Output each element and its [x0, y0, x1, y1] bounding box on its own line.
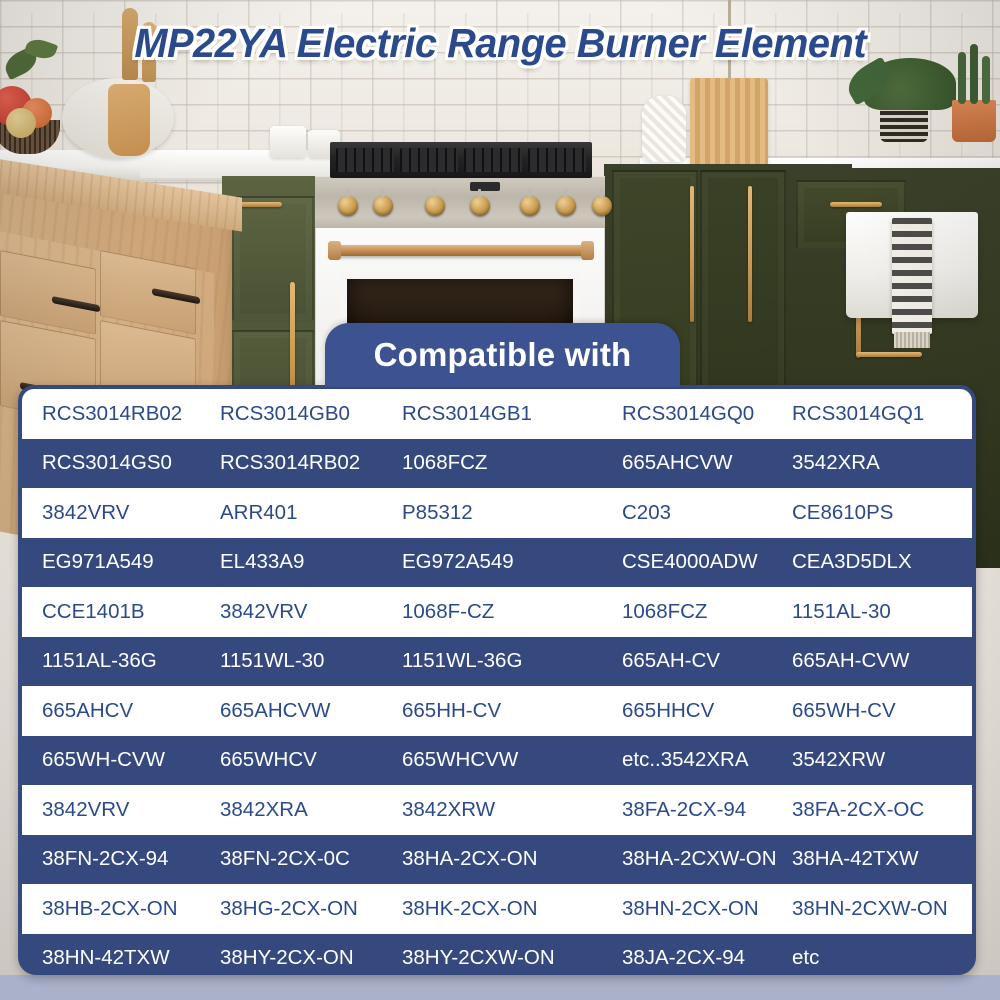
- model-number-cell: 665HHCV: [622, 699, 792, 723]
- model-number-cell: CSE4000ADW: [622, 550, 792, 574]
- model-number-cell: EL433A9: [220, 550, 402, 574]
- model-number-cell: 3842XRW: [402, 798, 622, 822]
- model-number-cell: RCS3014RB02: [220, 451, 402, 475]
- model-number-cell: 3842XRA: [220, 798, 402, 822]
- model-number-cell: 665AHCVW: [622, 451, 792, 475]
- model-number-cell: 1151AL-36G: [42, 649, 220, 673]
- model-number-cell: 665HH-CV: [402, 699, 622, 723]
- model-number-cell: 38HA-42TXW: [792, 847, 918, 871]
- compatible-with-label: Compatible with: [374, 336, 632, 374]
- model-number-cell: 665AHCVW: [220, 699, 402, 723]
- table-row: RCS3014RB02RCS3014GB0RCS3014GB1RCS3014GQ…: [22, 389, 972, 439]
- model-number-cell: 38HB-2CX-ON: [42, 897, 220, 921]
- compatibility-model-table: RCS3014RB02RCS3014GB0RCS3014GB1RCS3014GQ…: [18, 385, 976, 975]
- table-row: RCS3014GS0RCS3014RB021068FCZ665AHCVW3542…: [22, 439, 972, 489]
- model-number-cell: 1151AL-30: [792, 600, 891, 624]
- model-number-cell: 665AH-CV: [622, 649, 792, 673]
- model-number-cell: 1068FCZ: [622, 600, 792, 624]
- compatible-with-badge: Compatible with: [325, 323, 680, 387]
- model-number-cell: 38HK-2CX-ON: [402, 897, 622, 921]
- model-number-cell: etc: [792, 946, 819, 970]
- table-row: CCE1401B3842VRV1068F-CZ1068FCZ1151AL-30: [22, 587, 972, 637]
- model-number-cell: CEA3D5DLX: [792, 550, 912, 574]
- table-row: 3842VRVARR401P85312C203CE8610PS: [22, 488, 972, 538]
- model-number-cell: 38FA-2CX-94: [622, 798, 792, 822]
- model-number-cell: 665WHCVW: [402, 748, 622, 772]
- model-number-cell: 38HN-2CXW-ON: [792, 897, 948, 921]
- model-number-cell: 3842VRV: [42, 798, 220, 822]
- model-number-cell: 3842VRV: [42, 501, 220, 525]
- model-number-cell: ARR401: [220, 501, 402, 525]
- model-number-cell: RCS3014GS0: [42, 451, 220, 475]
- model-number-cell: 38HG-2CX-ON: [220, 897, 402, 921]
- model-number-cell: EG971A549: [42, 550, 220, 574]
- page-title-text: MP22YA Electric Range Burner Element: [134, 20, 866, 67]
- model-number-cell: 1068F-CZ: [402, 600, 622, 624]
- page-title: MP22YA Electric Range Burner Element: [0, 14, 1000, 72]
- model-number-cell: RCS3014GB1: [402, 402, 622, 426]
- model-number-cell: 1068FCZ: [402, 451, 622, 475]
- model-number-cell: EG972A549: [402, 550, 622, 574]
- table-row: 38FN-2CX-9438FN-2CX-0C38HA-2CX-ON38HA-2C…: [22, 835, 972, 885]
- model-number-cell: 3842VRV: [220, 600, 402, 624]
- table-row: EG971A549EL433A9EG972A549CSE4000ADWCEA3D…: [22, 538, 972, 588]
- model-number-cell: 1151WL-30: [220, 649, 402, 673]
- table-row: 665AHCV665AHCVW665HH-CV665HHCV665WH-CV: [22, 686, 972, 736]
- model-number-cell: CCE1401B: [42, 600, 220, 624]
- model-number-cell: 38HY-2CX-ON: [220, 946, 402, 970]
- model-number-cell: 3542XRW: [792, 748, 885, 772]
- model-number-cell: 38HA-2CX-ON: [402, 847, 622, 871]
- model-number-cell: C203: [622, 501, 792, 525]
- model-number-cell: P85312: [402, 501, 622, 525]
- model-number-cell: 665WH-CVW: [42, 748, 220, 772]
- model-number-cell: 665AHCV: [42, 699, 220, 723]
- model-number-cell: CE8610PS: [792, 501, 893, 525]
- model-number-cell: 38FN-2CX-0C: [220, 847, 402, 871]
- model-number-cell: RCS3014RB02: [42, 402, 220, 426]
- model-number-cell: 38JA-2CX-94: [622, 946, 792, 970]
- table-row: 3842VRV3842XRA3842XRW38FA-2CX-9438FA-2CX…: [22, 785, 972, 835]
- model-number-cell: 665WH-CV: [792, 699, 896, 723]
- model-number-cell: 38FN-2CX-94: [42, 847, 220, 871]
- model-number-cell: RCS3014GQ1: [792, 402, 924, 426]
- table-row: 1151AL-36G1151WL-301151WL-36G665AH-CV665…: [22, 637, 972, 687]
- model-number-cell: 38HN-2CX-ON: [622, 897, 792, 921]
- table-row: 38HN-42TXW38HY-2CX-ON38HY-2CXW-ON38JA-2C…: [22, 934, 972, 976]
- model-number-cell: etc..3542XRA: [622, 748, 792, 772]
- model-number-cell: RCS3014GB0: [220, 402, 402, 426]
- model-number-cell: 38HA-2CXW-ON: [622, 847, 792, 871]
- table-row: 665WH-CVW665WHCV665WHCVWetc..3542XRA3542…: [22, 736, 972, 786]
- model-number-cell: 38HN-42TXW: [42, 946, 220, 970]
- model-number-cell: 38FA-2CX-OC: [792, 798, 924, 822]
- table-row: 38HB-2CX-ON38HG-2CX-ON38HK-2CX-ON38HN-2C…: [22, 884, 972, 934]
- model-number-cell: 665AH-CVW: [792, 649, 909, 673]
- model-number-cell: 38HY-2CXW-ON: [402, 946, 622, 970]
- model-number-cell: RCS3014GQ0: [622, 402, 792, 426]
- model-number-cell: 1151WL-36G: [402, 649, 622, 673]
- model-number-cell: 3542XRA: [792, 451, 880, 475]
- model-number-cell: 665WHCV: [220, 748, 402, 772]
